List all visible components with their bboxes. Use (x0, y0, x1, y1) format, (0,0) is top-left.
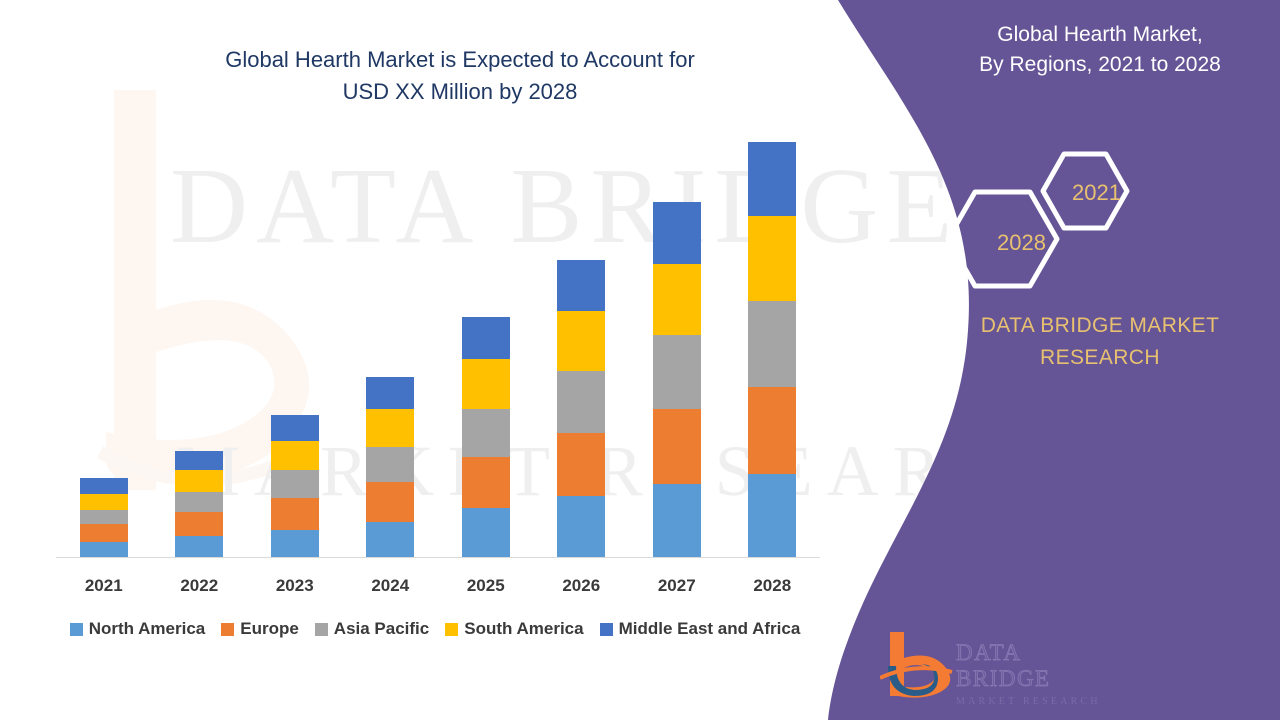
bar-segment (557, 371, 605, 433)
bar-column-2027 (629, 160, 724, 558)
bar-segment (462, 317, 510, 359)
stacked-bar (175, 451, 223, 558)
legend-label: South America (464, 619, 583, 639)
data-bridge-logo: DATA BRIDGE MARKET RESEARCH (880, 628, 1110, 712)
bar-column-2024 (343, 160, 438, 558)
x-tick-2024: 2024 (343, 576, 438, 596)
bar-segment (653, 202, 701, 264)
stacked-bar (557, 260, 605, 558)
x-tick-2023: 2023 (247, 576, 342, 596)
brand-line-2: RESEARCH (920, 342, 1280, 374)
bar-segment (80, 494, 128, 510)
panel-title-line-1: Global Hearth Market, (920, 20, 1280, 50)
bar-segment (748, 301, 796, 387)
bar-segment (462, 409, 510, 457)
hexagon-2021-label: 2021 (1072, 180, 1121, 206)
stacked-bar (271, 415, 319, 558)
x-tick-2022: 2022 (152, 576, 247, 596)
chart-legend: North AmericaEuropeAsia PacificSouth Ame… (40, 615, 830, 643)
logo-mark-icon (880, 628, 958, 700)
right-purple-panel: Global Hearth Market, By Regions, 2021 t… (810, 0, 1280, 720)
legend-label: Europe (240, 619, 299, 639)
bar-segment (271, 441, 319, 471)
bar-segment (175, 492, 223, 512)
x-axis-line (56, 557, 820, 558)
chart-title-line-1: Global Hearth Market is Expected to Acco… (140, 44, 780, 76)
logo-text: DATA BRIDGE MARKET RESEARCH (956, 640, 1110, 707)
bar-segment (175, 451, 223, 471)
legend-item[interactable]: South America (445, 619, 583, 639)
legend-swatch-icon (445, 623, 458, 636)
hexagon-group: 2021 2028 (920, 150, 1170, 290)
bar-segment (557, 496, 605, 558)
panel-title: Global Hearth Market, By Regions, 2021 t… (810, 20, 1280, 81)
logo-subtitle: MARKET RESEARCH (956, 696, 1110, 707)
legend-item[interactable]: Asia Pacific (315, 619, 429, 639)
legend-item[interactable]: Middle East and Africa (600, 619, 801, 639)
legend-label: North America (89, 619, 206, 639)
bar-column-2023 (247, 160, 342, 558)
hexagon-outlines-icon (920, 150, 1170, 290)
bar-segment (462, 457, 510, 509)
chart-title: Global Hearth Market is Expected to Acco… (140, 44, 780, 108)
x-tick-2026: 2026 (534, 576, 629, 596)
bar-segment (366, 447, 414, 483)
bar-segment (80, 524, 128, 542)
legend-swatch-icon (600, 623, 613, 636)
stacked-bar (748, 142, 796, 558)
bar-column-2022 (152, 160, 247, 558)
bar-segment (366, 377, 414, 409)
bar-column-2025 (438, 160, 533, 558)
bar-column-2028 (725, 160, 820, 558)
bar-segment (271, 498, 319, 530)
brand-line-1: DATA BRIDGE MARKET (920, 310, 1280, 342)
bar-segment (366, 482, 414, 522)
legend-item[interactable]: Europe (221, 619, 299, 639)
bar-segment (366, 522, 414, 558)
legend-label: Middle East and Africa (619, 619, 801, 639)
x-tick-2027: 2027 (629, 576, 724, 596)
bar-segment (748, 142, 796, 216)
legend-swatch-icon (70, 623, 83, 636)
bar-segment (271, 470, 319, 498)
bar-segment (748, 474, 796, 558)
legend-swatch-icon (315, 623, 328, 636)
bar-segment (653, 264, 701, 336)
stacked-bar (366, 377, 414, 558)
stacked-bar (462, 317, 510, 558)
bar-segment (80, 542, 128, 558)
x-tick-2021: 2021 (56, 576, 151, 596)
bar-column-2021 (56, 160, 151, 558)
panel-title-line-2: By Regions, 2021 to 2028 (920, 50, 1280, 80)
hexagon-2028-label: 2028 (997, 230, 1046, 256)
bar-segment (80, 510, 128, 524)
bar-segment (175, 536, 223, 558)
legend-swatch-icon (221, 623, 234, 636)
x-tick-2025: 2025 (438, 576, 533, 596)
bar-segment (557, 433, 605, 497)
bar-segment (271, 415, 319, 441)
bar-column-2026 (534, 160, 629, 558)
bar-segment (271, 530, 319, 558)
bar-segment (653, 409, 701, 485)
stacked-bar (80, 478, 128, 558)
bar-series-container (56, 160, 820, 558)
bar-segment (175, 470, 223, 492)
bar-segment (462, 508, 510, 558)
bar-segment (748, 387, 796, 475)
legend-label: Asia Pacific (334, 619, 429, 639)
x-axis-tick-labels: 20212022202320242025202620272028 (56, 572, 820, 600)
legend-item[interactable]: North America (70, 619, 206, 639)
bar-segment (653, 484, 701, 558)
bar-segment (80, 478, 128, 494)
logo-title: DATA BRIDGE (956, 640, 1110, 692)
chart-plot-area (56, 160, 820, 558)
bar-segment (557, 260, 605, 312)
bar-segment (462, 359, 510, 409)
bar-segment (366, 409, 414, 447)
x-tick-2028: 2028 (725, 576, 820, 596)
bar-segment (175, 512, 223, 536)
bar-segment (653, 335, 701, 409)
stacked-bar (653, 202, 701, 558)
chart-title-line-2: USD XX Million by 2028 (140, 76, 780, 108)
slide-canvas: DATA BRIDGE MARKET RESEARCH Global Heart… (0, 0, 1280, 720)
bar-segment (748, 216, 796, 302)
brand-name: DATA BRIDGE MARKET RESEARCH (810, 310, 1280, 373)
bar-segment (557, 311, 605, 371)
